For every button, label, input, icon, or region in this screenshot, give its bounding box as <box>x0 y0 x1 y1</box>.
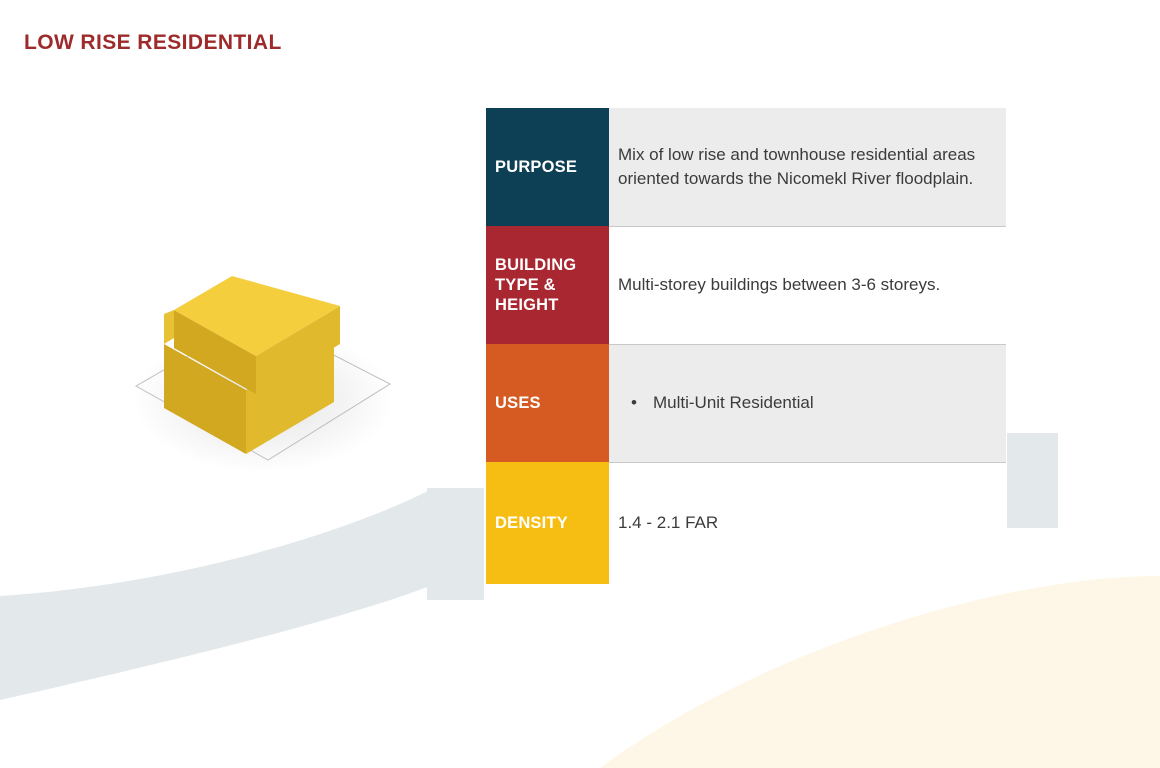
uses-list: • Multi-Unit Residential <box>618 391 814 415</box>
row-label-building-type-height: BUILDING TYPE & HEIGHT <box>486 226 609 344</box>
grey-curve-band <box>0 490 430 700</box>
storey-2-roof-ledge <box>164 310 174 344</box>
page-title: LOW RISE RESIDENTIAL <box>24 31 282 55</box>
bullet-icon: • <box>631 391 637 415</box>
table-row-building-type-height: BUILDING TYPE & HEIGHT Multi-storey buil… <box>486 226 1006 344</box>
density-text: 1.4 - 2.1 FAR <box>618 511 718 535</box>
row-value-purpose: Mix of low rise and townhouse residentia… <box>609 108 1006 226</box>
cream-curve-shape <box>600 576 1160 768</box>
purpose-text: Mix of low rise and townhouse residentia… <box>618 143 994 191</box>
table-row-density: DENSITY 1.4 - 2.1 FAR <box>486 462 1006 584</box>
grey-step-block <box>427 488 484 600</box>
row-label-uses: USES <box>486 344 609 462</box>
row-label-density: DENSITY <box>486 462 609 584</box>
table-row-uses: USES • Multi-Unit Residential <box>486 344 1006 462</box>
row-value-density: 1.4 - 2.1 FAR <box>609 462 1006 584</box>
table-row-purpose: PURPOSE Mix of low rise and townhouse re… <box>486 108 1006 226</box>
row-label-purpose: PURPOSE <box>486 108 609 226</box>
building-type-height-text: Multi-storey buildings between 3-6 store… <box>618 273 940 297</box>
list-item: • Multi-Unit Residential <box>618 391 814 415</box>
grey-accent-block-right <box>1007 433 1058 528</box>
specification-table: PURPOSE Mix of low rise and townhouse re… <box>486 108 1006 584</box>
massing-diagram <box>118 248 408 498</box>
uses-text: Multi-Unit Residential <box>653 393 814 412</box>
row-value-building-type-height: Multi-storey buildings between 3-6 store… <box>609 226 1006 344</box>
row-value-uses: • Multi-Unit Residential <box>609 344 1006 462</box>
